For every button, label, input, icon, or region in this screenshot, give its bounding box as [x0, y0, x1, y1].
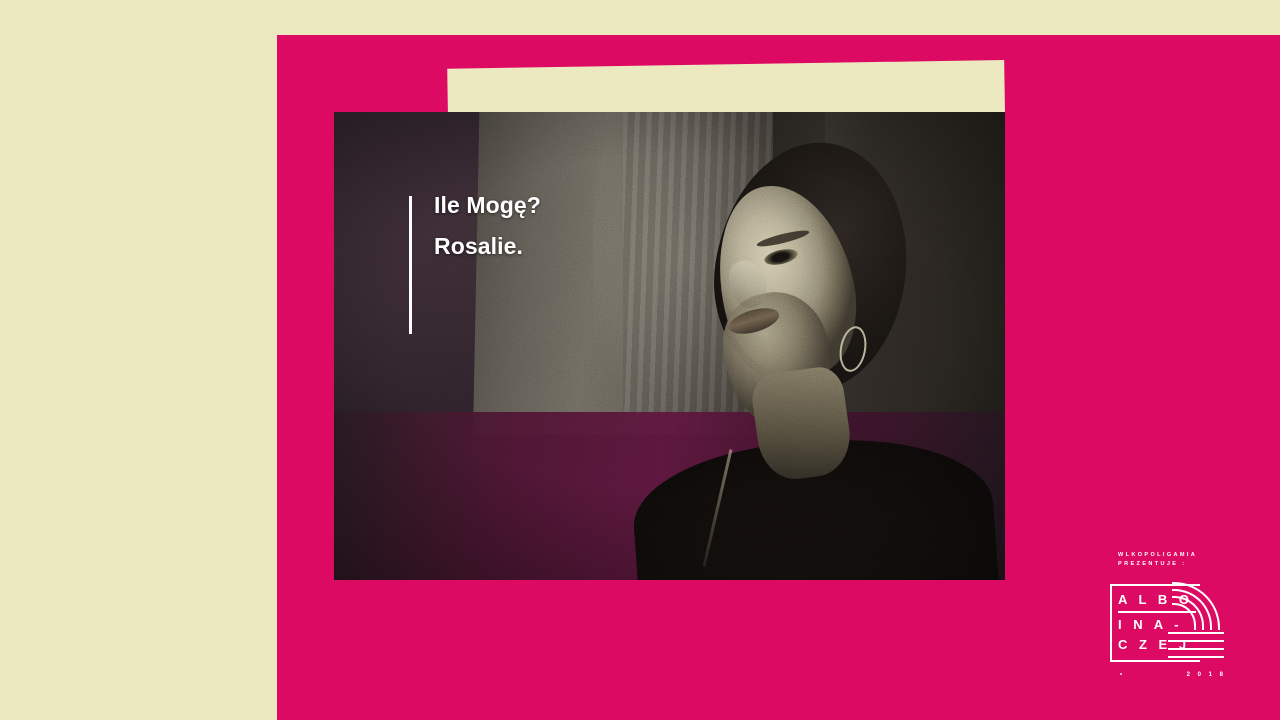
- portrait-photo-card: Ile Mogę? Rosalie.: [334, 112, 1005, 580]
- slide-canvas: Ile Mogę? Rosalie. WLKOPOLIGAMIA PREZENT…: [0, 0, 1280, 720]
- albo-inaczej-logo: WLKOPOLIGAMIA PREZENTUJE : A L B O I N A…: [1106, 552, 1238, 678]
- logo-two-base-lines: [1168, 632, 1224, 658]
- logo-presenter-text: WLKOPOLIGAMIA PREZENTUJE :: [1118, 552, 1236, 568]
- caption-line-artist: Rosalie.: [434, 233, 541, 260]
- caption-text: Ile Mogę? Rosalie.: [434, 192, 541, 260]
- logo-year: 2 0 1 8: [1187, 672, 1226, 678]
- logo-mark: A L B O I N A - C Z E J: [1110, 584, 1234, 662]
- caption-line-title: Ile Mogę?: [434, 192, 541, 219]
- logo-presenter-line-1: WLKOPOLIGAMIA: [1118, 552, 1236, 559]
- logo-presenter-line-2: PREZENTUJE :: [1118, 561, 1236, 568]
- logo-year-row: • 2 0 1 8: [1120, 672, 1226, 678]
- caption-vertical-rule: [409, 196, 412, 334]
- portrait-subject: [664, 142, 954, 562]
- caption-block: Ile Mogę? Rosalie.: [409, 192, 541, 334]
- logo-bullet: •: [1120, 672, 1125, 678]
- logo-number-two-icon: [1172, 582, 1234, 664]
